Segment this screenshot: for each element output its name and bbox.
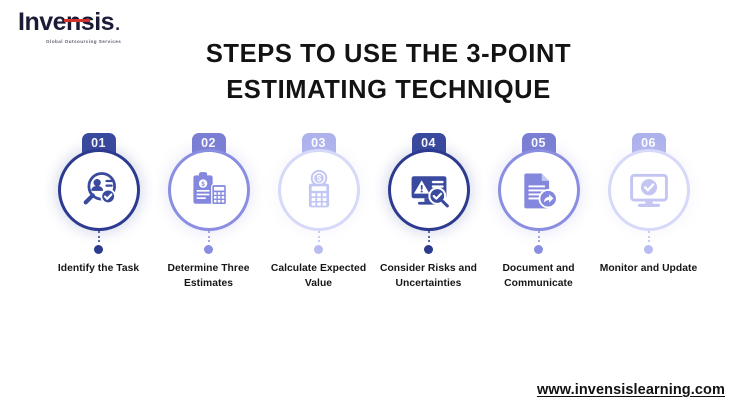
monitor-warning-magnifier-icon xyxy=(407,168,451,212)
step-icon-circle[interactable] xyxy=(611,152,687,228)
step-icon-circle-wrap xyxy=(391,152,467,228)
step-item-05[interactable]: 05 Document and Communicate xyxy=(484,133,594,292)
connector-end-dot xyxy=(534,245,543,254)
step-icon-circle[interactable]: $ xyxy=(171,152,247,228)
svg-text:$: $ xyxy=(316,174,321,183)
svg-text:$: $ xyxy=(201,181,205,188)
steps-row: 01 Identify the Task02 $ xyxy=(0,133,747,292)
connector-end-dot xyxy=(94,245,103,254)
step-icon-circle-wrap: $ xyxy=(281,152,357,228)
step-label: Monitor and Update xyxy=(591,261,706,276)
step-connector xyxy=(644,231,653,254)
magnifier-user-check-icon xyxy=(77,168,121,212)
step-icon-circle-wrap xyxy=(611,152,687,228)
step-item-06[interactable]: 06 Monitor and Update xyxy=(594,133,704,276)
logo-period: . xyxy=(114,8,121,36)
monitor-check-icon xyxy=(627,168,671,212)
dotted-line xyxy=(538,231,540,244)
dotted-line xyxy=(208,231,210,244)
infographic-page: Invensis. Global Outsourcing Services ST… xyxy=(0,0,747,420)
dotted-line xyxy=(98,231,100,244)
step-connector xyxy=(204,231,213,254)
step-item-01[interactable]: 01 Identify the Task xyxy=(44,133,154,276)
step-label: Consider Risks and Uncertainties xyxy=(371,261,486,292)
step-label: Calculate Expected Value xyxy=(261,261,376,292)
logo-accent-bar xyxy=(64,19,90,22)
dotted-line xyxy=(428,231,430,244)
step-icon-circle[interactable] xyxy=(501,152,577,228)
step-icon-circle[interactable]: $ xyxy=(281,152,357,228)
dotted-line xyxy=(318,231,320,244)
step-item-03[interactable]: 03 $ Calculate Expected Value xyxy=(264,133,374,292)
step-connector xyxy=(314,231,323,254)
step-label: Identify the Task xyxy=(41,261,156,276)
step-icon-circle-wrap xyxy=(61,152,137,228)
step-label: Determine Three Estimates xyxy=(151,261,266,292)
connector-end-dot xyxy=(424,245,433,254)
calculator-coin-icon: $ xyxy=(297,168,341,212)
clipboard-calculator-icon: $ xyxy=(187,168,231,212)
dotted-line xyxy=(648,231,650,244)
logo-wordmark: Invensis xyxy=(18,10,114,35)
connector-end-dot xyxy=(644,245,653,254)
title-line-2: ESTIMATING TECHNIQUE xyxy=(30,72,747,108)
step-icon-circle-wrap: $ xyxy=(171,152,247,228)
website-url-link[interactable]: www.invensislearning.com xyxy=(537,382,725,398)
document-share-icon xyxy=(517,168,561,212)
connector-end-dot xyxy=(204,245,213,254)
title-line-1: STEPS TO USE THE 3-POINT xyxy=(30,36,747,72)
step-connector xyxy=(94,231,103,254)
step-item-02[interactable]: 02 $ Determine Three Estimates xyxy=(154,133,264,292)
step-connector xyxy=(534,231,543,254)
page-title: STEPS TO USE THE 3-POINT ESTIMATING TECH… xyxy=(0,36,747,108)
step-icon-circle[interactable] xyxy=(61,152,137,228)
step-icon-circle[interactable] xyxy=(391,152,467,228)
step-connector xyxy=(424,231,433,254)
step-icon-circle-wrap xyxy=(501,152,577,228)
step-item-04[interactable]: 04 Consider Risks and Uncertainties xyxy=(374,133,484,292)
step-label: Document and Communicate xyxy=(481,261,596,292)
connector-end-dot xyxy=(314,245,323,254)
